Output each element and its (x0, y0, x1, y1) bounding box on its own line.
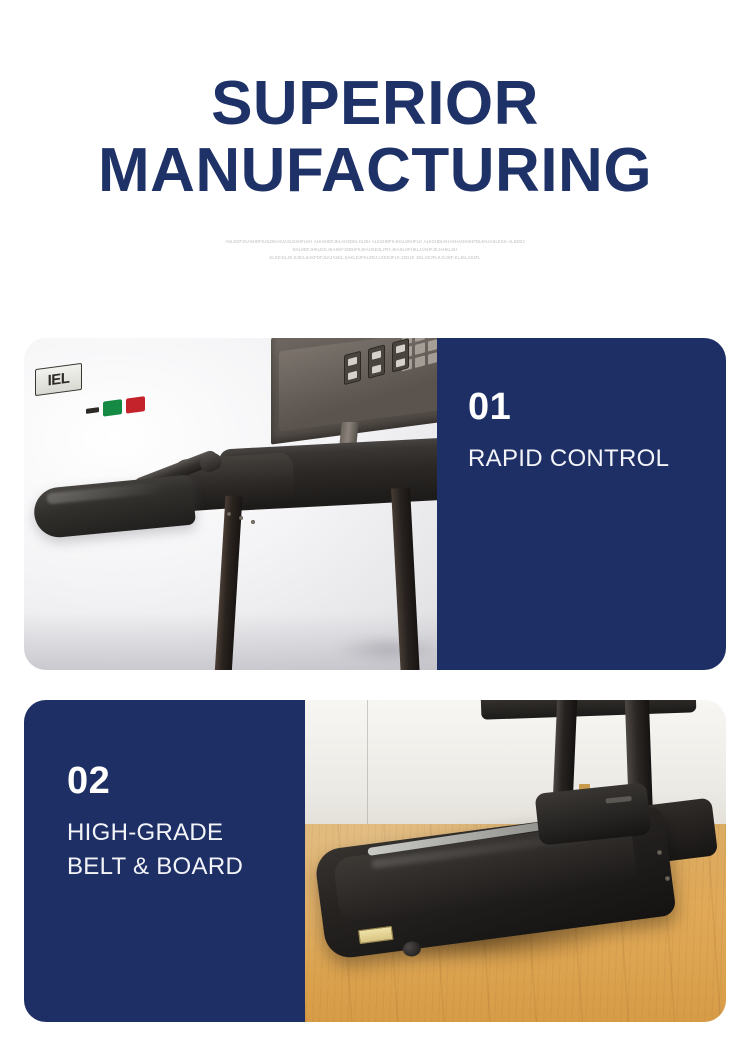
feature-card-02[interactable]: 02 HIGH-GRADE BELT & BOARD (24, 700, 726, 1022)
feature-card-01-label-line-1: RAPID CONTROL (468, 442, 669, 476)
feature-card-01-panel: 01 RAPID CONTROL (437, 338, 726, 670)
subtitle-line-2: KHLSDFJHKLDS;JKASKFJSDHFKJKAHSDJLJFH;JKA… (217, 246, 533, 254)
feature-card-01[interactable]: IEL (24, 338, 726, 670)
product-feature-page: SUPERIOR MANUFACTURING ASLKDFJKASHDFKHLD… (0, 0, 750, 1038)
deck-spec-label (358, 926, 394, 944)
feature-card-02-label-line-2: BELT & BOARD (67, 850, 243, 884)
feature-card-01-label: RAPID CONTROL (468, 442, 669, 476)
console-screen-logo: IEL (35, 363, 82, 396)
subtitle-line-1: ASLKDFJKASHDFKHLDKASJASLKSHFLKH ALKSHDFJ… (217, 238, 533, 246)
feature-card-02-number: 02 (67, 762, 243, 800)
feature-card-02-panel: 02 HIGH-GRADE BELT & BOARD (24, 700, 305, 1022)
console-stop-button[interactable] (126, 396, 145, 414)
feature-card-02-label: HIGH-GRADE BELT & BOARD (67, 816, 243, 884)
page-header: SUPERIOR MANUFACTURING ASLKDFJKASHDFKHLD… (0, 0, 750, 261)
page-title-line-1: SUPERIOR (0, 72, 750, 135)
subtitle-line-3: KLSD;KLJK;SJD;LSAKFDFJLKJASKL;SAKLDJFKLS… (217, 254, 533, 262)
armrest-pad-graphic (32, 474, 196, 539)
subtitle-paragraph: ASLKDFJKASHDFKHLDKASJASLKSHFLKH ALKSHDFJ… (217, 238, 533, 261)
feature-card-02-label-line-1: HIGH-GRADE (67, 816, 243, 850)
treadmill-deck-photo (305, 700, 726, 1022)
console-start-button[interactable] (103, 399, 122, 417)
console-start-stop-buttons[interactable] (86, 396, 145, 419)
feature-card-01-number: 01 (468, 388, 669, 426)
treadmill-console-photo: IEL (24, 338, 437, 670)
page-title-line-2: MANUFACTURING (0, 139, 750, 202)
